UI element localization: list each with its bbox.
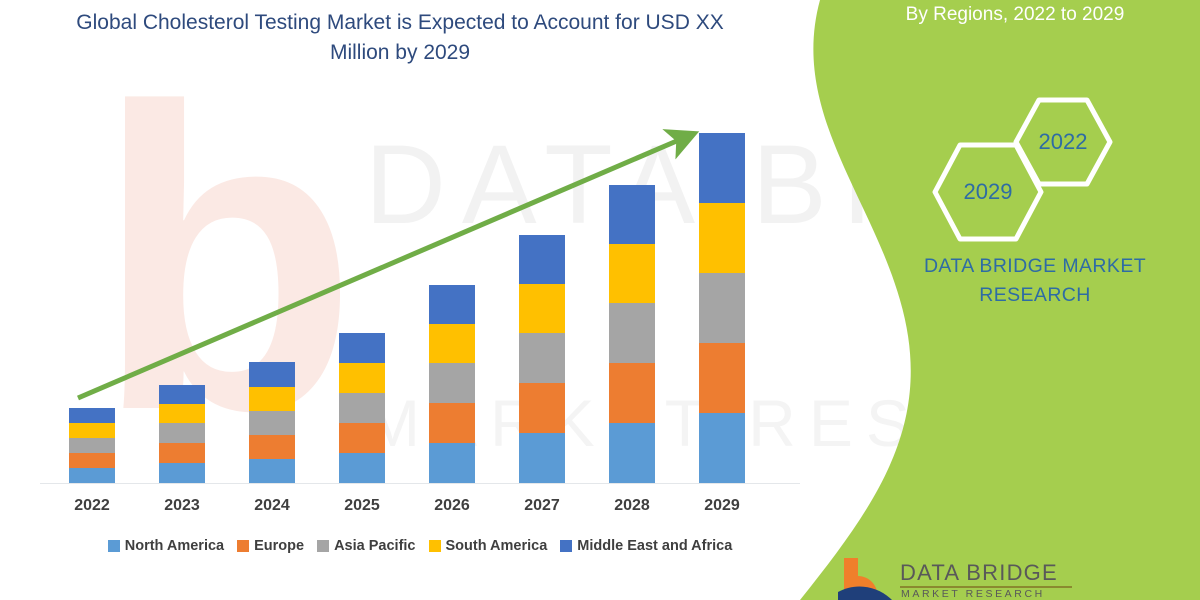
segment-asia-pacific (609, 303, 655, 363)
segment-north-america (69, 468, 115, 483)
legend-swatch-icon (237, 540, 249, 552)
stacked-bar-chart: 20222023202420252026202720282029 North A… (0, 0, 820, 600)
bar-2028 (609, 185, 655, 483)
hexagon-label-2022: 2022 (1013, 97, 1113, 187)
bar-2023 (159, 385, 205, 483)
segment-europe (609, 363, 655, 423)
legend-swatch-icon (108, 540, 120, 552)
segment-north-america (249, 459, 295, 483)
bar-2026 (429, 285, 475, 483)
segment-middle-east-and-africa (609, 185, 655, 244)
chart-legend: North AmericaEuropeAsia PacificSouth Ame… (40, 538, 800, 554)
segment-asia-pacific (519, 333, 565, 383)
segment-middle-east-and-africa (69, 408, 115, 423)
data-bridge-logo: DATA BRIDGE MARKET RESEARCH (838, 556, 1178, 600)
legend-label: South America (446, 538, 548, 554)
right-panel-heading: By Regions, 2022 to 2029 (845, 2, 1185, 28)
segment-asia-pacific (249, 411, 295, 435)
x-label-2026: 2026 (412, 497, 492, 515)
legend-swatch-icon (317, 540, 329, 552)
segment-north-america (339, 453, 385, 483)
logo-text: DATA BRIDGE (900, 560, 1058, 586)
segment-south-america (69, 423, 115, 438)
x-label-2028: 2028 (592, 497, 672, 515)
bar-2022 (69, 408, 115, 483)
segment-middle-east-and-africa (159, 385, 205, 404)
x-label-2024: 2024 (232, 497, 312, 515)
segment-south-america (429, 324, 475, 363)
segment-north-america (429, 443, 475, 483)
legend-label: North America (125, 538, 224, 554)
legend-swatch-icon (429, 540, 441, 552)
x-label-2025: 2025 (322, 497, 402, 515)
legend-label: Middle East and Africa (577, 538, 732, 554)
segment-north-america (699, 413, 745, 483)
bar-2029 (699, 133, 745, 483)
legend-item-europe[interactable]: Europe (237, 538, 304, 554)
segment-asia-pacific (429, 363, 475, 403)
hexagon-badge-2022: 2022 (1013, 97, 1113, 187)
segment-south-america (249, 387, 295, 411)
segment-north-america (609, 423, 655, 483)
bar-2024 (249, 362, 295, 483)
legend-swatch-icon (560, 540, 572, 552)
segment-south-america (699, 203, 745, 273)
legend-item-south-america[interactable]: South America (429, 538, 548, 554)
segment-middle-east-and-africa (339, 333, 385, 363)
segment-south-america (339, 363, 385, 393)
x-label-2022: 2022 (52, 497, 132, 515)
segment-europe (339, 423, 385, 453)
brand-name: DATA BRIDGE MARKET RESEARCH (880, 252, 1190, 310)
segment-south-america (519, 284, 565, 333)
segment-europe (69, 453, 115, 468)
bar-2025 (339, 333, 385, 483)
segment-middle-east-and-africa (249, 362, 295, 387)
logo-subtext: MARKET RESEARCH (901, 588, 1045, 600)
x-axis-line (40, 483, 800, 484)
segment-asia-pacific (69, 438, 115, 453)
infographic-canvas: b DATA BRIDGE MARKET RESEARCH Global Cho… (0, 0, 1200, 600)
segment-north-america (519, 433, 565, 483)
bar-2027 (519, 235, 565, 483)
legend-item-asia-pacific[interactable]: Asia Pacific (317, 538, 415, 554)
legend-item-middle-east-and-africa[interactable]: Middle East and Africa (560, 538, 732, 554)
segment-asia-pacific (699, 273, 745, 343)
segment-europe (159, 443, 205, 463)
segment-europe (429, 403, 475, 443)
brand-line-2: RESEARCH (880, 281, 1190, 310)
logo-mark-icon (838, 556, 894, 600)
legend-label: Europe (254, 538, 304, 554)
segment-south-america (609, 244, 655, 303)
segment-europe (249, 435, 295, 459)
legend-item-north-america[interactable]: North America (108, 538, 224, 554)
segment-south-america (159, 404, 205, 423)
segment-europe (699, 343, 745, 413)
segment-north-america (159, 463, 205, 483)
legend-label: Asia Pacific (334, 538, 415, 554)
segment-middle-east-and-africa (429, 285, 475, 324)
segment-asia-pacific (159, 423, 205, 443)
x-label-2023: 2023 (142, 497, 222, 515)
segment-middle-east-and-africa (519, 235, 565, 284)
x-label-2029: 2029 (682, 497, 762, 515)
x-label-2027: 2027 (502, 497, 582, 515)
brand-line-1: DATA BRIDGE MARKET (880, 252, 1190, 281)
segment-asia-pacific (339, 393, 385, 423)
segment-middle-east-and-africa (699, 133, 745, 203)
segment-europe (519, 383, 565, 433)
